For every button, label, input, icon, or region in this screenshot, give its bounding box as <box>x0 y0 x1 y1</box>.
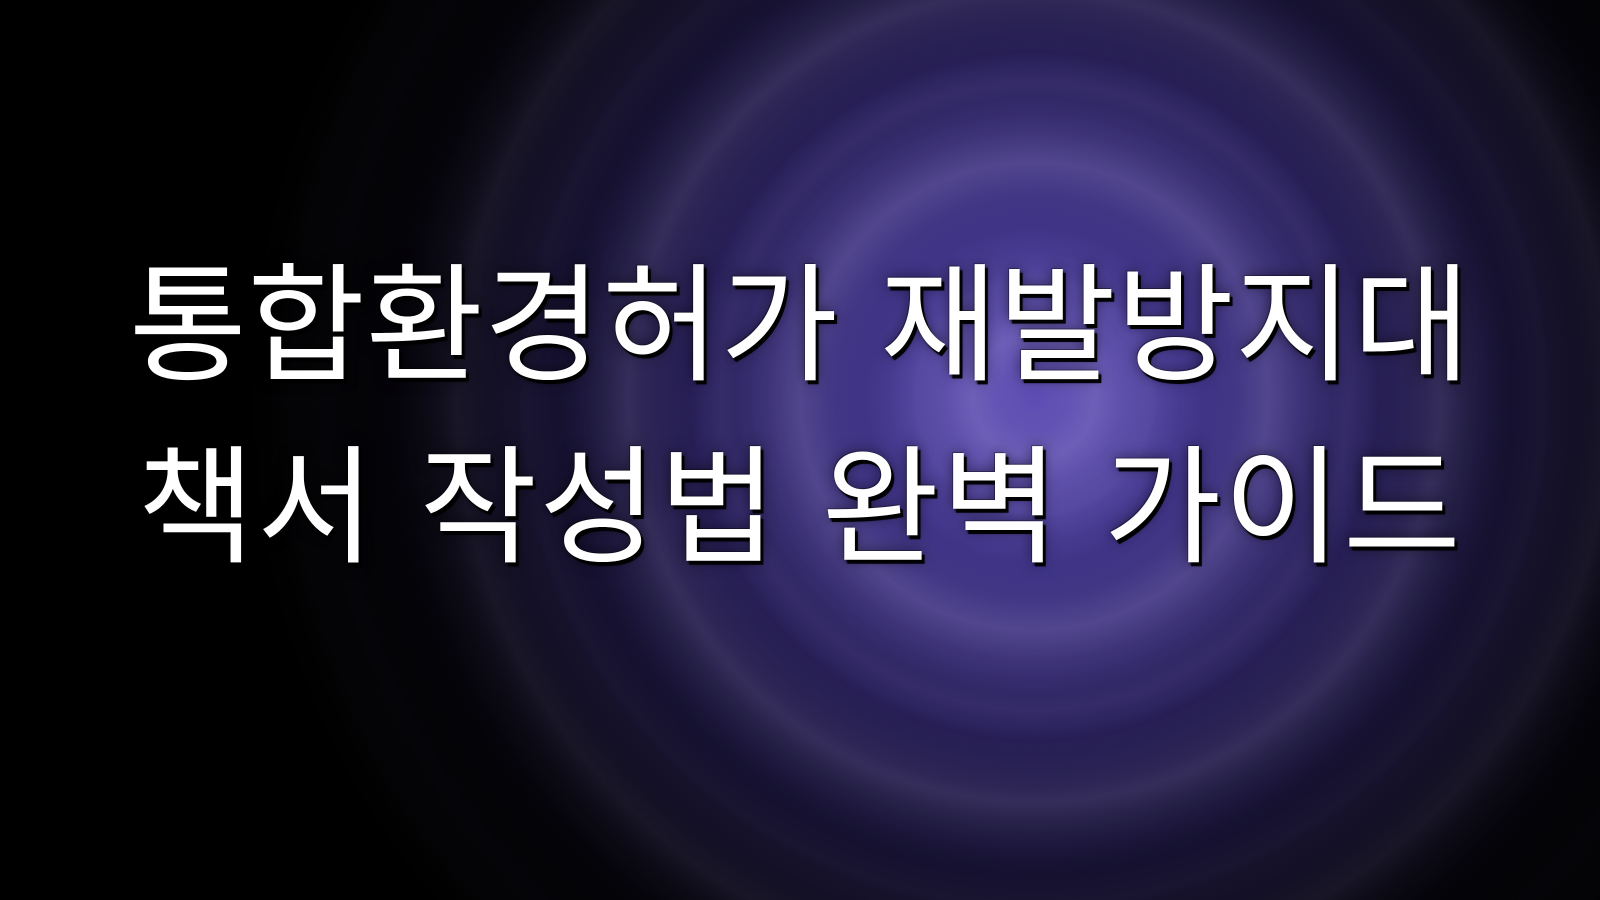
title-slide: 통합환경허가 재발방지대 책서 작성법 완벽 가이드 <box>0 0 1600 900</box>
ripple-vignette <box>0 0 1600 900</box>
ripple-background-panel <box>0 0 1600 900</box>
